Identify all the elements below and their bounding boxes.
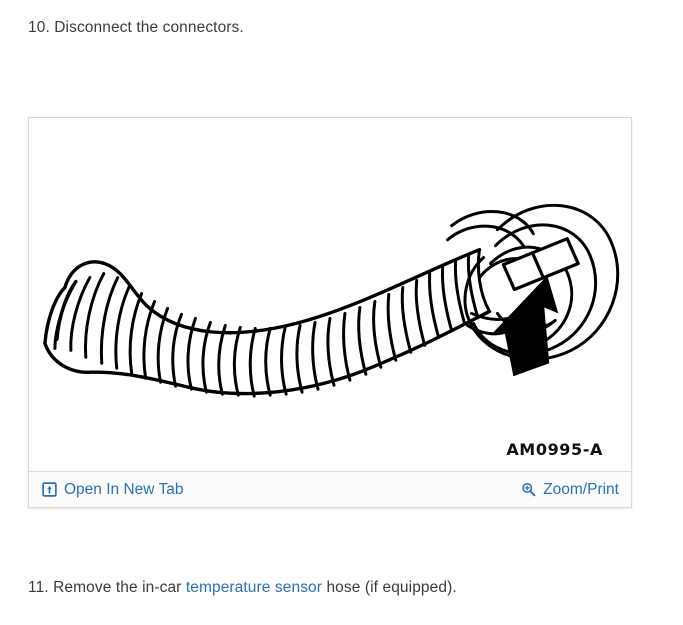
magnifier-plus-icon [520, 482, 536, 498]
open-in-new-tab-label: Open In New Tab [64, 481, 183, 499]
step-10-text: 10. Disconnect the connectors. [28, 18, 244, 38]
figure-panel: AM0995-A Open In New Tab Zoom/P [28, 117, 632, 508]
open-in-new-tab-icon [41, 482, 57, 498]
figure-toolbar: Open In New Tab Zoom/Print [29, 471, 631, 507]
figure-image[interactable]: AM0995-A [29, 118, 631, 471]
step-11-text: 11. Remove the in-car temperature sensor… [28, 578, 457, 598]
open-in-new-tab-button[interactable]: Open In New Tab [41, 481, 183, 499]
band-clamp [503, 239, 578, 290]
step-11-prefix: 11. Remove the in-car [28, 579, 186, 596]
zoom-print-label: Zoom/Print [543, 481, 619, 499]
step-11-suffix: hose (if equipped). [322, 579, 457, 596]
figure-code-label: AM0995-A [506, 440, 603, 459]
duct-hose-illustration [29, 118, 631, 471]
zoom-print-button[interactable]: Zoom/Print [520, 481, 619, 499]
temperature-sensor-link[interactable]: temperature sensor [186, 579, 322, 596]
